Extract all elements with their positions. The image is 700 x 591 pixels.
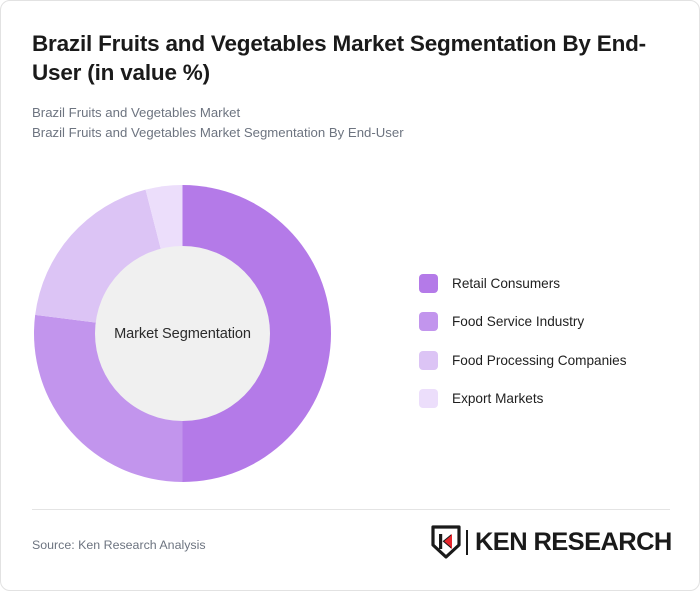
chart-legend: Retail ConsumersFood Service IndustryFoo… <box>419 264 669 418</box>
donut-chart: Market Segmentation <box>34 185 331 482</box>
legend-swatch-icon <box>419 274 438 293</box>
logo-wordmark: KEN RESEARCH <box>475 530 672 555</box>
legend-item[interactable]: Food Processing Companies <box>419 341 669 380</box>
donut-chart-svg <box>34 185 331 482</box>
subtitle-line-market: Brazil Fruits and Vegetables Market <box>32 103 662 123</box>
subtitle-block: Brazil Fruits and Vegetables Market Braz… <box>32 103 662 143</box>
legend-swatch-icon <box>419 312 438 331</box>
page-title: Brazil Fruits and Vegetables Market Segm… <box>32 29 662 87</box>
logo-divider <box>466 530 469 555</box>
legend-item[interactable]: Export Markets <box>419 380 669 419</box>
legend-item-label: Food Service Industry <box>452 314 584 329</box>
subtitle-line-segmentation: Brazil Fruits and Vegetables Market Segm… <box>32 123 662 143</box>
ken-research-logo: KEN RESEARCH <box>431 525 668 559</box>
legend-item[interactable]: Retail Consumers <box>419 264 669 303</box>
legend-item-label: Food Processing Companies <box>452 353 627 368</box>
chart-card: Brazil Fruits and Vegetables Market Segm… <box>0 0 700 591</box>
legend-swatch-icon <box>419 389 438 408</box>
legend-item-label: Export Markets <box>452 391 543 406</box>
legend-item-label: Retail Consumers <box>452 276 560 291</box>
legend-swatch-icon <box>419 351 438 370</box>
footer-divider <box>32 509 670 510</box>
donut-hole <box>95 246 270 421</box>
ken-research-shield-logo-icon <box>431 525 461 559</box>
chart-header: Brazil Fruits and Vegetables Market Segm… <box>32 29 662 143</box>
source-note: Source: Ken Research Analysis <box>32 538 206 552</box>
legend-item[interactable]: Food Service Industry <box>419 303 669 342</box>
